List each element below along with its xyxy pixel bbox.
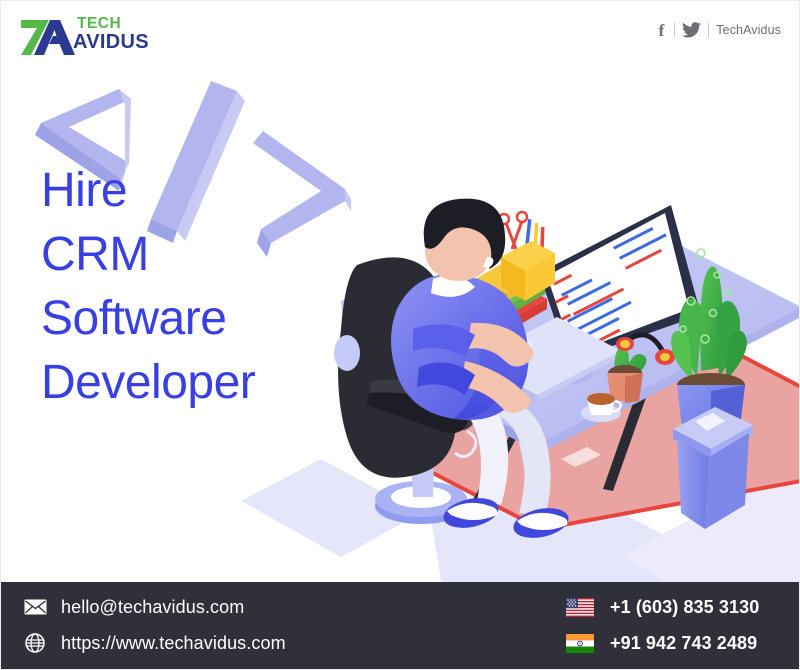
logo-mark-icon (19, 17, 75, 57)
headline-line-3: Software (41, 287, 255, 351)
headline-line-1: Hire (41, 159, 255, 223)
banner-header: TECH AVIDUS f TechAvidus (1, 1, 800, 71)
facebook-icon[interactable]: f (656, 22, 668, 39)
twitter-icon[interactable] (682, 22, 701, 38)
headline-block: Hire CRM Software Developer (41, 159, 255, 415)
footer-phone-us-row[interactable]: +1 (603) 835 3130 (566, 592, 759, 622)
globe-icon (23, 632, 47, 654)
footer-website-text: https://www.techavidus.com (61, 633, 286, 654)
headline-line-4: Developer (41, 351, 255, 415)
footer-phone-us-text: +1 (603) 835 3130 (610, 597, 759, 618)
envelope-icon (23, 596, 47, 618)
india-flag-icon (566, 634, 594, 653)
headline-line-2: CRM (41, 223, 255, 287)
contact-footer: hello@techavidus.com https://www.techavi… (1, 582, 800, 669)
logo-wordmark: TECH AVIDUS (77, 15, 167, 59)
techavidus-logo[interactable]: TECH AVIDUS (19, 15, 159, 59)
marketing-banner: TECH AVIDUS f TechAvidus Hire CRM Softwa… (0, 0, 800, 670)
pencil-holder (499, 212, 555, 301)
footer-website-row[interactable]: https://www.techavidus.com (23, 628, 286, 658)
logo-text-tech: TECH (77, 16, 121, 32)
footer-phone-in-text: +91 942 743 2489 (610, 633, 757, 654)
social-brand-label: TechAvidus (716, 23, 781, 37)
us-flag-icon (566, 598, 594, 617)
footer-email-row[interactable]: hello@techavidus.com (23, 592, 244, 622)
social-links: f TechAvidus (656, 19, 781, 41)
social-divider-1 (674, 23, 675, 37)
social-divider-2 (708, 23, 709, 37)
footer-phone-in-row[interactable]: +91 942 743 2489 (566, 628, 757, 658)
footer-email-text: hello@techavidus.com (61, 597, 244, 618)
logo-text-avidus: AVIDUS (73, 32, 149, 52)
